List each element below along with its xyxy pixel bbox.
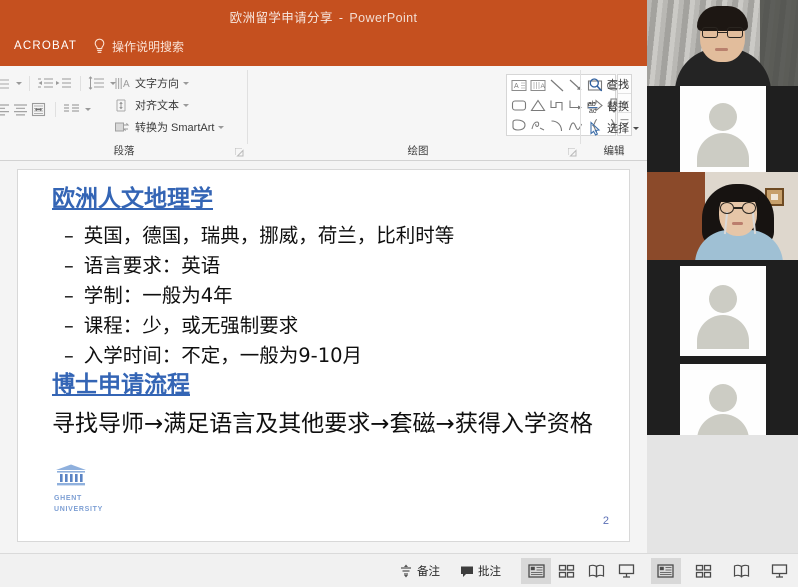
bullet-marker: – xyxy=(64,284,74,307)
replace-command[interactable]: ab ac 替换 xyxy=(588,95,639,117)
convert-smartart-icon xyxy=(114,120,131,135)
reading-view-button-2[interactable] xyxy=(726,558,756,584)
slideshow-button[interactable] xyxy=(611,558,641,584)
align-text-command[interactable]: 对齐文本 xyxy=(114,94,224,116)
triangle-shape-icon[interactable] xyxy=(529,97,547,114)
slideshow-icon xyxy=(618,563,635,579)
tell-me-search[interactable]: 操作说明搜索 xyxy=(93,38,184,55)
align-justify-icon[interactable] xyxy=(30,102,47,117)
ghent-logo-line1: GHENT xyxy=(54,494,126,503)
slide-number: 2 xyxy=(603,515,609,527)
paragraph-command-list: A 文字方向 对齐文本 xyxy=(114,72,224,138)
slideshow-button-2[interactable] xyxy=(764,558,794,584)
panel-view-buttons xyxy=(647,558,798,584)
avatar-head xyxy=(709,103,737,131)
avatar-head xyxy=(709,384,737,412)
bullet-marker: – xyxy=(64,314,74,337)
panel-status-strip xyxy=(647,553,798,587)
glasses-icon xyxy=(702,27,743,38)
slide-sorter-icon xyxy=(695,563,712,579)
screen-root: 欧洲留学申请分享-PowerPoint ACROBAT 操作说明搜索 xyxy=(0,0,798,587)
replace-icon: ab ac xyxy=(588,99,603,114)
slide[interactable]: 欧洲人文地理学 –英国，德国，瑞典，挪威，荷兰，比利时等 –语言要求：英语 –学… xyxy=(18,170,629,541)
normal-view-button-2[interactable] xyxy=(651,558,681,584)
align-text-caret[interactable] xyxy=(183,104,189,107)
slide-bullet-1[interactable]: –英国，德国，瑞典，挪威，荷兰，比利时等 xyxy=(64,219,454,248)
columns-caret[interactable] xyxy=(85,108,91,111)
paragraph-group-label: 段落 xyxy=(0,143,248,158)
bullets-dropdown-caret[interactable] xyxy=(16,82,22,85)
powerpoint-window: 欧洲留学申请分享-PowerPoint ACROBAT 操作说明搜索 xyxy=(0,0,647,587)
ribbon-group-drawing: A A xyxy=(248,66,581,161)
comment-bubble-icon xyxy=(460,564,474,578)
bullet-text: 课程：少，或无强制要求 xyxy=(84,314,299,337)
participant-bangs xyxy=(717,186,759,202)
slide-heading-2[interactable]: 博士申请流程 xyxy=(52,365,190,399)
paragraph-dialog-launcher[interactable] xyxy=(235,148,244,157)
ribbon-tab-strip: ACROBAT 操作说明搜索 xyxy=(0,33,647,66)
notes-label: 备注 xyxy=(417,563,440,579)
notes-button[interactable]: 备注 xyxy=(389,559,450,583)
divider xyxy=(80,76,81,91)
slideshow-icon xyxy=(771,563,788,579)
drawing-group-label: 绘图 xyxy=(368,143,468,158)
pentagon-shape-icon[interactable] xyxy=(510,117,528,134)
align-center-icon[interactable] xyxy=(12,102,29,117)
slide-heading-1[interactable]: 欧洲人文地理学 xyxy=(52,179,213,213)
bullets-icon[interactable] xyxy=(0,76,11,91)
slide-canvas-area: 欧洲人文地理学 –英国，德国，瑞典，挪威，荷兰，比利时等 –语言要求：英语 –学… xyxy=(0,161,647,553)
text-direction-command[interactable]: A 文字方向 xyxy=(114,72,224,94)
video-tile-3[interactable] xyxy=(647,172,798,260)
bullet-marker: – xyxy=(64,254,74,277)
replace-label: 替换 xyxy=(607,98,629,114)
participant-mouth xyxy=(732,222,743,225)
video-tile-2[interactable] xyxy=(647,86,798,172)
editing-command-list: 查找 ab ac 替换 选择 xyxy=(588,73,639,139)
find-label: 查找 xyxy=(607,76,629,92)
increase-indent-icon[interactable] xyxy=(55,76,72,91)
find-command[interactable]: 查找 xyxy=(588,73,639,95)
tell-me-placeholder: 操作说明搜索 xyxy=(112,38,184,55)
slide-bullet-4[interactable]: –课程：少，或无强制要求 xyxy=(64,309,298,338)
bullet-text: 入学时间：不定，一般为9-10月 xyxy=(84,344,362,367)
ribbon-group-paragraph: A 文字方向 对齐文本 xyxy=(0,66,248,161)
slide-sorter-button-2[interactable] xyxy=(689,558,719,584)
divider xyxy=(55,102,56,117)
svg-text:ac: ac xyxy=(589,108,597,114)
notes-icon xyxy=(399,564,413,578)
ghent-university-logo: GHENT UNIVERSITY xyxy=(54,463,126,514)
bullet-text: 英国，德国，瑞典，挪威，荷兰，比利时等 xyxy=(84,224,455,247)
select-cursor-icon xyxy=(588,121,603,136)
title-bar: 欧洲留学申请分享-PowerPoint xyxy=(0,0,647,33)
normal-view-icon xyxy=(657,563,674,579)
line-shape-icon[interactable] xyxy=(548,77,566,94)
normal-view-icon xyxy=(528,563,545,579)
text-direction-label: 文字方向 xyxy=(135,75,179,91)
drawing-dialog-launcher[interactable] xyxy=(568,148,577,157)
lightbulb-icon xyxy=(93,38,106,55)
reading-view-icon xyxy=(588,563,605,579)
ghent-logo-line2: UNIVERSITY xyxy=(54,505,126,514)
align-text-label: 对齐文本 xyxy=(135,97,179,113)
decrease-indent-icon[interactable] xyxy=(37,76,54,91)
paragraph-row-2 xyxy=(0,102,91,117)
align-left-icon[interactable] xyxy=(0,102,11,117)
select-caret[interactable] xyxy=(633,127,639,130)
reading-view-icon xyxy=(733,563,750,579)
vertical-text-box-shape-icon[interactable]: A xyxy=(529,77,547,94)
participant-mouth xyxy=(715,48,728,51)
convert-smartart-caret[interactable] xyxy=(218,126,224,129)
video-background-door xyxy=(647,172,705,260)
panel-empty-area xyxy=(647,435,798,553)
svg-text:A: A xyxy=(541,83,546,90)
slide-bullet-5[interactable]: –入学时间：不定，一般为9-10月 xyxy=(64,339,362,368)
align-text-icon xyxy=(114,98,131,113)
avatar-head xyxy=(709,285,737,313)
avatar xyxy=(695,99,751,159)
freeform-shape-icon[interactable] xyxy=(529,117,547,134)
text-box-shape-icon[interactable]: A xyxy=(510,77,528,94)
rounded-rectangle-shape-icon[interactable] xyxy=(510,97,528,114)
arc-shape-icon[interactable] xyxy=(548,117,566,134)
window-title: 欧洲留学申请分享-PowerPoint xyxy=(230,7,418,26)
svg-text:ab: ab xyxy=(588,101,596,108)
text-direction-caret[interactable] xyxy=(183,82,189,85)
ribbon: A 文字方向 对齐文本 xyxy=(0,66,647,161)
title-separator: - xyxy=(333,11,350,25)
status-bar: 备注 批注 xyxy=(0,553,647,587)
slide-bullet-2[interactable]: –语言要求：英语 xyxy=(64,249,220,278)
slide-sorter-button[interactable] xyxy=(551,558,581,584)
select-label: 选择 xyxy=(607,120,629,136)
svg-text:A: A xyxy=(123,79,130,90)
title-document-name: 欧洲留学申请分享 xyxy=(230,11,333,25)
editing-group-label: 编辑 xyxy=(581,143,647,158)
comments-button[interactable]: 批注 xyxy=(450,559,511,583)
divider xyxy=(29,76,30,91)
avatar-card xyxy=(680,86,766,172)
text-direction-icon: A xyxy=(114,76,131,91)
video-panel xyxy=(647,0,798,587)
paragraph-row-1 xyxy=(0,76,116,91)
video-tile-1[interactable] xyxy=(647,0,798,86)
avatar-body xyxy=(697,133,749,167)
tab-acrobat[interactable]: ACROBAT xyxy=(14,40,77,52)
convert-smartart-command[interactable]: 转换为 SmartArt xyxy=(114,116,224,138)
bullet-text: 学制：一般为4年 xyxy=(84,284,233,307)
reading-view-button[interactable] xyxy=(581,558,611,584)
avatar xyxy=(695,281,751,341)
normal-view-button[interactable] xyxy=(521,558,551,584)
columns-icon[interactable] xyxy=(63,102,80,117)
svg-text:A: A xyxy=(514,83,519,90)
line-spacing-icon[interactable] xyxy=(88,76,105,91)
ribbon-group-editing: 查找 ab ac 替换 选择 xyxy=(581,66,647,161)
avatar xyxy=(695,380,751,440)
university-building-icon xyxy=(54,463,88,487)
slide-sorter-icon xyxy=(558,563,575,579)
slide-flow-text[interactable]: 寻找导师→满足语言及其他要求→套磁→获得入学资格 xyxy=(52,404,593,438)
elbow-connector-shape-icon[interactable] xyxy=(548,97,566,114)
title-app-name: PowerPoint xyxy=(349,11,417,25)
search-icon xyxy=(588,77,603,92)
avatar-card xyxy=(680,266,766,356)
convert-smartart-label: 转换为 SmartArt xyxy=(135,119,214,135)
bullet-text: 语言要求：英语 xyxy=(84,254,221,277)
video-tile-4[interactable] xyxy=(647,260,798,362)
glasses-icon xyxy=(720,202,756,214)
comments-label: 批注 xyxy=(478,563,501,579)
bullet-marker: – xyxy=(64,224,74,247)
avatar-body xyxy=(697,315,749,349)
slide-bullet-3[interactable]: –学制：一般为4年 xyxy=(64,279,233,308)
select-command[interactable]: 选择 xyxy=(588,117,639,139)
bullet-marker: – xyxy=(64,344,74,367)
